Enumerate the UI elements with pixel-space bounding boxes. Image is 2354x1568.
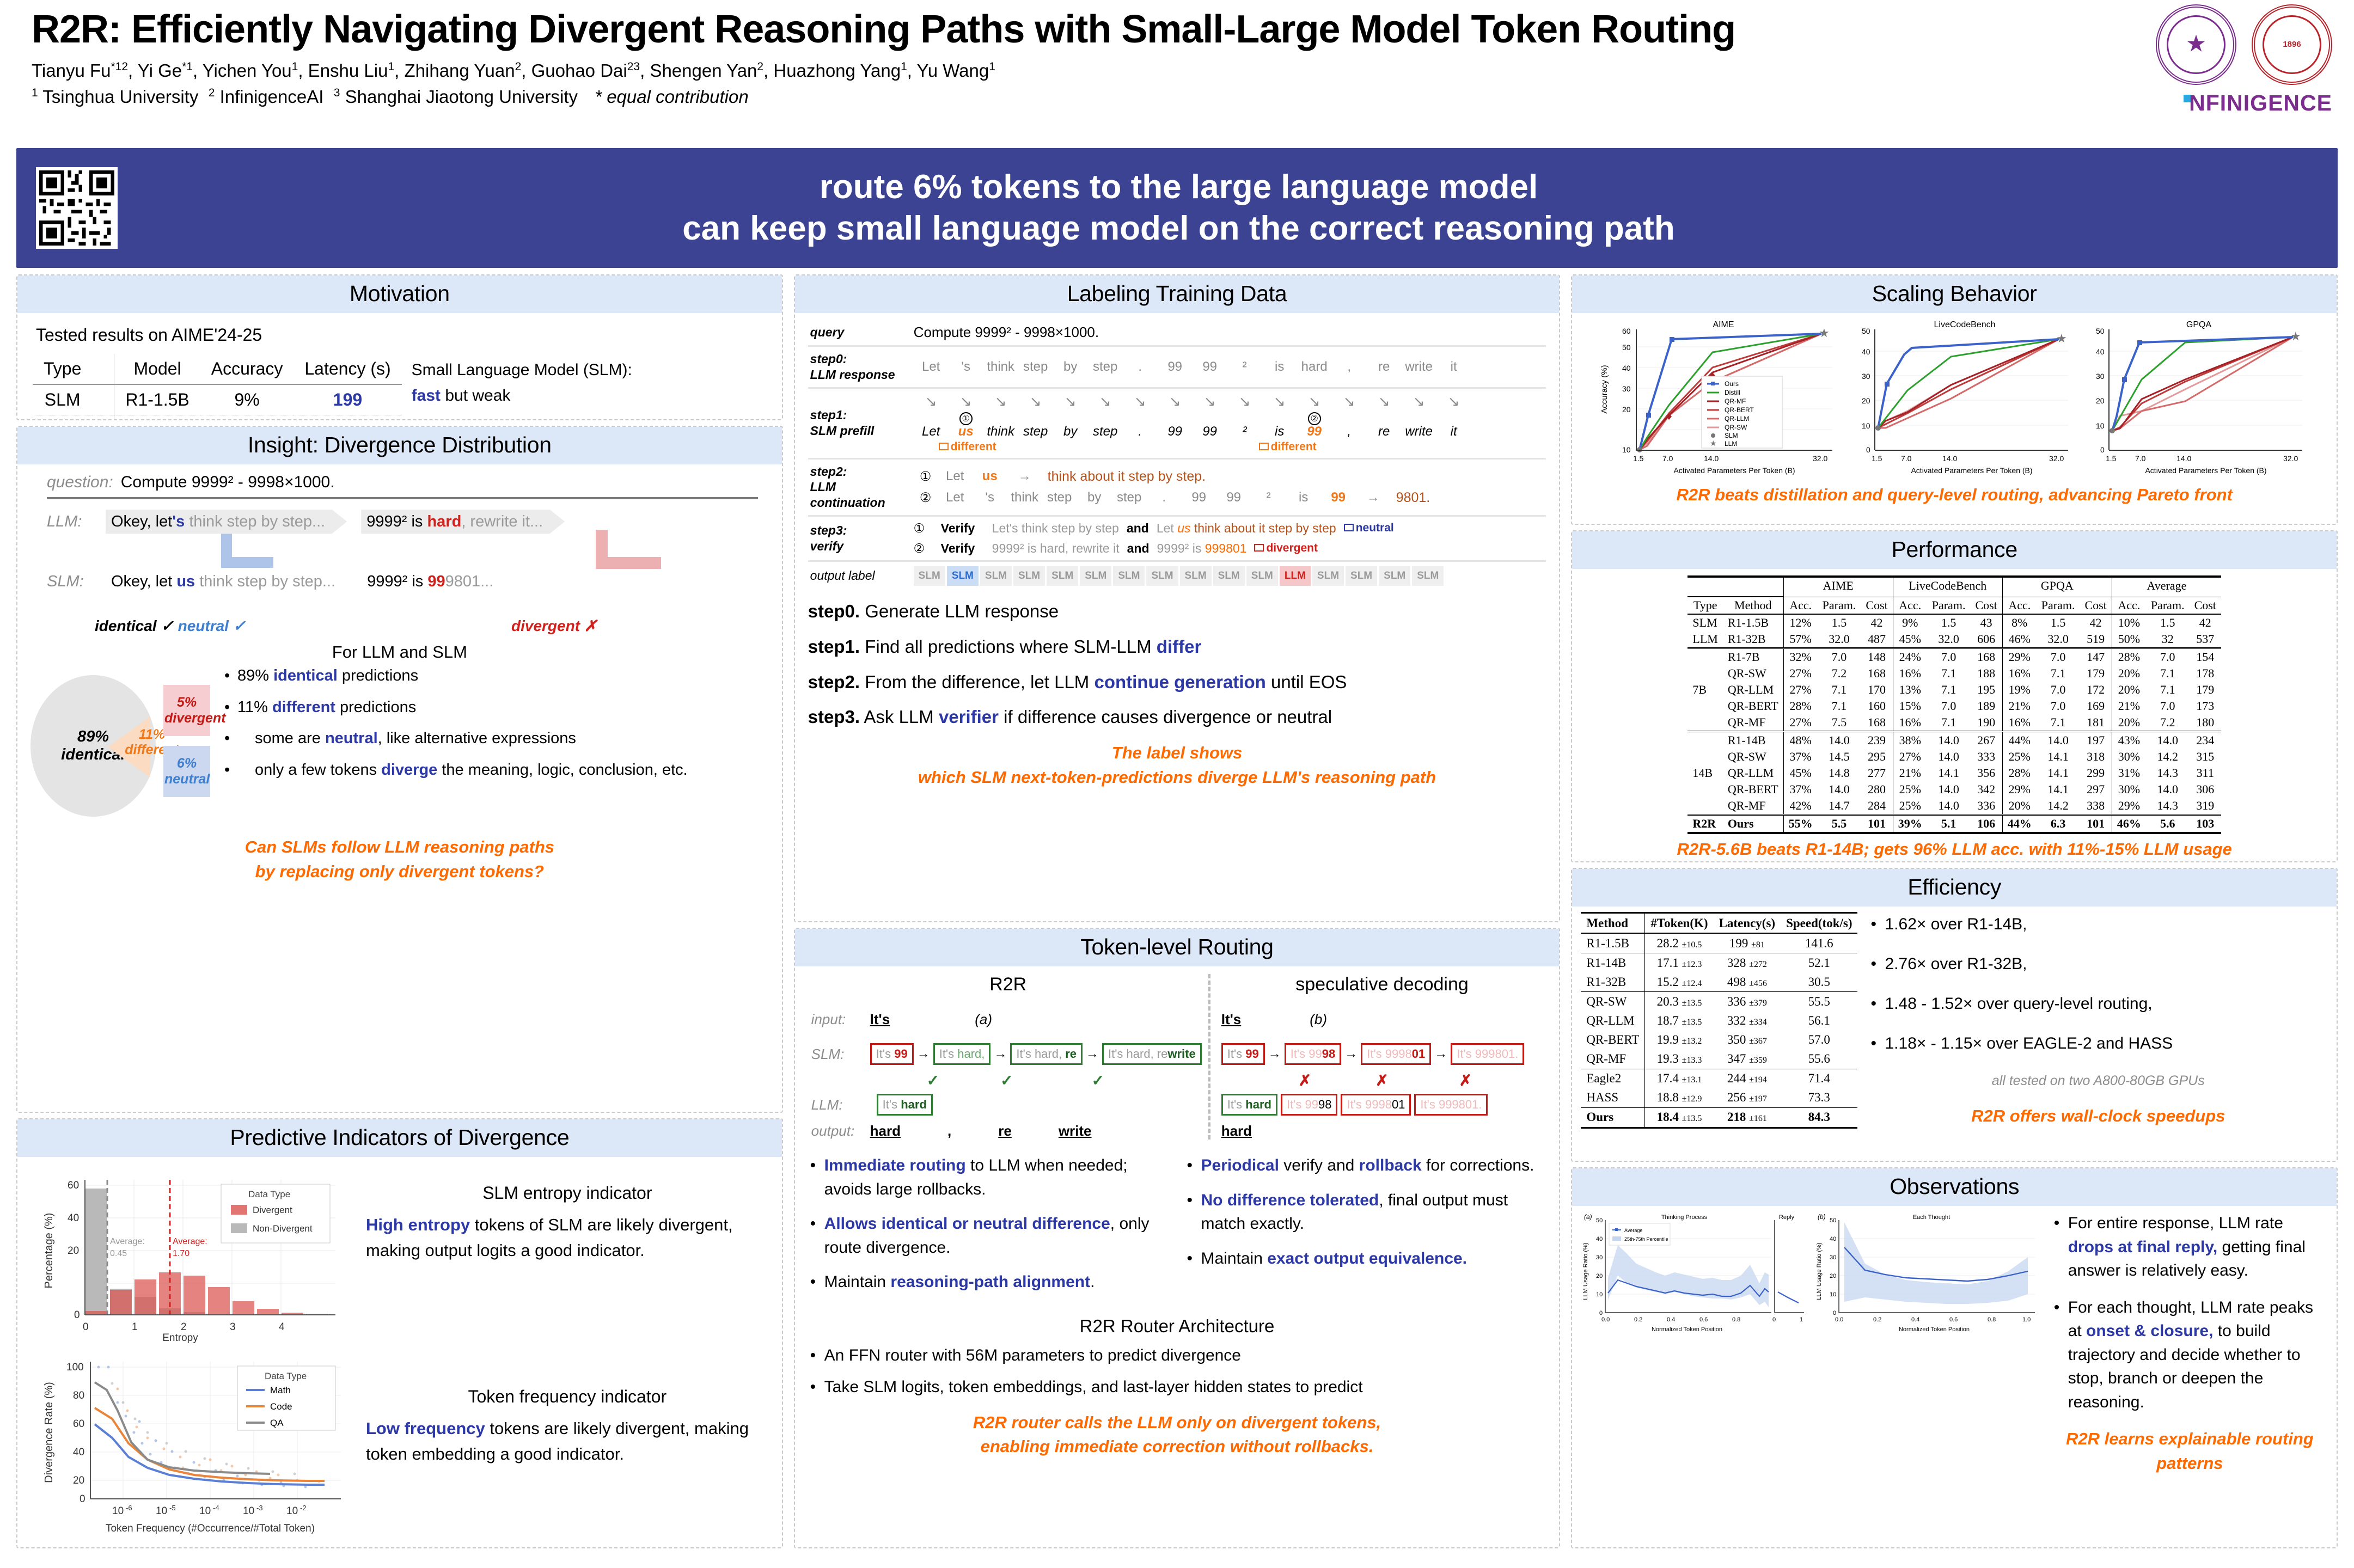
svg-text:20: 20 (2096, 396, 2105, 405)
table-row: QR-BERT 28%7.1160 15%7.0189 21%7.0169 21… (1687, 698, 2221, 714)
svg-text:25th-75th Percentile: 25th-75th Percentile (1624, 1236, 1668, 1242)
insight-verdicts: identical ✓ neutral ✓ divergent ✗ (95, 617, 769, 635)
svg-text:1.5: 1.5 (2106, 454, 2117, 463)
svg-text:-2: -2 (300, 1504, 307, 1512)
svg-text:0.4: 0.4 (1667, 1316, 1675, 1323)
svg-text:-6: -6 (126, 1504, 132, 1512)
divergence-distribution-figure: 89%identical 11%different 5%divergent 6%… (30, 664, 210, 828)
svg-text:50: 50 (1596, 1217, 1603, 1224)
svg-text:60: 60 (1622, 327, 1631, 335)
list-item: Maintain exact output equivalence. (1185, 1247, 1546, 1271)
svg-text:30: 30 (1830, 1254, 1836, 1261)
svg-text:Divergence Rate (%): Divergence Rate (%) (43, 1382, 55, 1483)
svg-text:GPQA: GPQA (2186, 320, 2212, 329)
divergent-tag: divergent (1254, 542, 1318, 555)
table-row: QR-MF 19.3 ±13.3 347 ±359 55.6 (1581, 1050, 1857, 1069)
observations-caption: R2R learns explainable routing patterns (2052, 1427, 2328, 1476)
svg-text:50: 50 (1830, 1217, 1836, 1224)
svg-text:Normalized Token Position: Normalized Token Position (1899, 1326, 1970, 1333)
svg-text:QR-BERT: QR-BERT (1725, 406, 1754, 414)
svg-text:1.70: 1.70 (173, 1249, 189, 1258)
routing-check-marks: ✓ ✓ ✓ (811, 1071, 1205, 1090)
svg-text:Normalized Token Position: Normalized Token Position (1652, 1326, 1722, 1333)
slm-box: It's 99 (870, 1043, 914, 1065)
affiliation-list: 1 Tsinghua University 2 InfinigenceAI 3 … (32, 85, 2338, 109)
svg-text:Code: Code (270, 1401, 292, 1412)
svg-text:10: 10 (286, 1505, 298, 1517)
svg-text:0.8: 0.8 (1732, 1316, 1740, 1323)
svg-text:60: 60 (68, 1180, 79, 1191)
panel-title-labeling: Labeling Training Data (795, 275, 1560, 313)
svg-text:LiveCodeBench: LiveCodeBench (1934, 320, 1996, 329)
page-title: R2R: Efficiently Navigating Divergent Re… (32, 10, 2338, 49)
svg-text:10: 10 (1862, 421, 1870, 430)
divergent-chip: 5%divergent (163, 685, 210, 736)
svg-text:1.5: 1.5 (1633, 454, 1644, 463)
speculative-bullets: Periodical verify and rollback for corre… (1185, 1154, 1546, 1305)
panel-insight: Insight: Divergence Distribution questio… (16, 426, 783, 1113)
svg-text:40: 40 (1622, 364, 1631, 372)
efficiency-table: Method #Token(K) Latency(s) Speed(tok/s)… (1581, 912, 1857, 1129)
banner-headline: route 6% tokens to the large language mo… (118, 167, 2338, 249)
svg-text:40: 40 (2096, 347, 2105, 356)
list-item: Maintain reasoning-path alignment. (808, 1270, 1170, 1294)
svg-text:14.0: 14.0 (1704, 454, 1719, 463)
neutral-chip: 6%neutral (163, 746, 210, 797)
svg-text:20: 20 (1862, 396, 1870, 405)
svg-text:40: 40 (1596, 1236, 1603, 1242)
table-row: QR-SW 27%7.2168 16%7.1188 16%7.1179 20%7… (1687, 665, 2221, 682)
difference-tag: different (939, 440, 996, 454)
svg-text:1: 1 (1800, 1316, 1803, 1323)
svg-text:0: 0 (83, 1321, 89, 1333)
list-item: only a few tokens diverge the meaning, l… (221, 758, 769, 782)
svg-text:0.2: 0.2 (1634, 1316, 1642, 1323)
svg-text:30: 30 (2096, 372, 2105, 381)
svg-text:Non-Divergent: Non-Divergent (253, 1223, 313, 1234)
svg-text:Activated Parameters Per Token: Activated Parameters Per Token (B) (1674, 466, 1795, 475)
panel-scaling: Scaling Behavior AIME (1571, 274, 2338, 525)
svg-text:4: 4 (279, 1321, 285, 1333)
chart-thinking-process: (a) Thinking Process Reply Average (1581, 1211, 1809, 1337)
output-label-row: SLM SLM SLM SLM SLM SLM SLM SLM SLM SL (914, 566, 1544, 586)
difference-tag: different (1259, 440, 1317, 454)
banner-line-1: route 6% tokens to the large language mo… (118, 167, 2240, 208)
svg-text:20: 20 (68, 1245, 79, 1257)
svg-text:QA: QA (270, 1418, 284, 1428)
svg-text:★: ★ (2290, 329, 2301, 343)
sjtu-seal-icon: 1896 (2252, 4, 2332, 85)
poster-root: R2R: Efficiently Navigating Divergent Re… (0, 0, 2354, 1568)
router-architecture-title: R2R Router Architecture (808, 1316, 1546, 1337)
table-row: LLM R1-32B 57%32.0487 45%32.0606 46%32.0… (1687, 631, 2221, 648)
svg-text:32.0: 32.0 (2283, 454, 2298, 463)
poster-header: R2R: Efficiently Navigating Divergent Re… (16, 0, 2338, 148)
table-row: step0:LLM response Let'sthinkstepbystep.… (808, 346, 1546, 388)
svg-text:20: 20 (1596, 1273, 1603, 1279)
svg-text:50: 50 (1622, 343, 1631, 352)
llm-box: It's 9998 (1281, 1094, 1338, 1116)
svg-text:0.4: 0.4 (1911, 1316, 1919, 1323)
observation-bullets: For entire response, LLM rate drops at f… (2052, 1211, 2328, 1476)
list-item: No difference tolerated, final output mu… (1185, 1189, 1546, 1236)
routing-cross-marks: ✗ ✗ ✗ (1221, 1071, 1543, 1090)
table-row: step2:LLM continuation ① Let us → think … (808, 458, 1546, 516)
equal-contribution-note: * equal contribution (595, 87, 749, 107)
table-row: R1-32B 15.2 ±12.4 498 ±456 30.5 (1581, 972, 1857, 992)
motivation-table: Type Model Accuracy Latency (s) SLM R1 (33, 354, 402, 420)
step-line: step0. Generate LLM response (808, 600, 1546, 623)
svg-text:80: 80 (73, 1390, 84, 1401)
list-item: 2.76× over R1-32B, (1868, 952, 2328, 976)
svg-text:AIME: AIME (1713, 320, 1734, 329)
llm-box: It's 999801. (1414, 1094, 1488, 1116)
svg-text:0: 0 (80, 1493, 85, 1505)
panel-title-efficiency: Efficiency (1572, 869, 2337, 906)
svg-text:0: 0 (2100, 445, 2105, 454)
svg-text:-4: -4 (213, 1504, 219, 1512)
svg-text:20: 20 (1830, 1273, 1836, 1279)
svg-text:Accuracy (%): Accuracy (%) (1600, 365, 1609, 413)
table-row: 14BQR-LLM 45%14.8277 21%14.1356 28%14.12… (1687, 765, 2221, 781)
svg-text:(a): (a) (1584, 1213, 1592, 1221)
svg-text:30: 30 (1596, 1254, 1603, 1261)
svg-text:(b): (b) (1818, 1213, 1826, 1221)
step2-row-1: ① Let us → think about it step by step. (914, 469, 1544, 485)
step1-token-row: Letusthinkstepbystep.9999²is99,rewriteit (914, 424, 1544, 439)
svg-text:0: 0 (74, 1309, 80, 1321)
panel-performance: Performance AIME LiveCodeBench GPQA Aver… (1571, 530, 2338, 862)
slm-trace-row: SLM: Okey, let us think step by step... … (47, 566, 758, 597)
efficiency-bullets: 1.62× over R1-14B, 2.76× over R1-32B, 1.… (1868, 912, 2328, 1129)
svg-text:30: 30 (1622, 384, 1631, 393)
svg-text:Data Type: Data Type (248, 1189, 290, 1199)
table-row: QR-SW 20.3 ±13.5 336 ±379 55.5 (1581, 992, 1857, 1012)
motivation-caption: Tested results on AIME'24-25 (36, 325, 402, 345)
svg-text:Entropy: Entropy (162, 1332, 198, 1343)
col-accuracy: Accuracy (200, 354, 294, 384)
insight-question: question:Compute 9999² - 9998×1000. (47, 472, 758, 499)
list-item: Take SLM logits, token embeddings, and l… (808, 1376, 1546, 1399)
infinigence-wordmark: NFINIGENCE (2189, 90, 2332, 115)
svg-text:QR-LLM: QR-LLM (1725, 415, 1749, 422)
svg-text:QR-SW: QR-SW (1725, 424, 1747, 431)
svg-text:0.8: 0.8 (1988, 1316, 1996, 1323)
svg-text:Average: Average (1624, 1228, 1642, 1233)
list-item: 1.48 - 1.52× over query-level routing, (1868, 991, 2328, 1016)
poster-columns: Motivation Tested results on AIME'24-25 … (16, 274, 2338, 1548)
table-row: Ours 18.4 ±13.5 218 ±161 84.3 (1581, 1107, 1857, 1128)
slm-box: It's 9998 (1285, 1043, 1342, 1065)
panel-title-motivation: Motivation (17, 275, 782, 313)
affiliations: 1 Tsinghua University 2 InfinigenceAI 3 … (32, 87, 578, 107)
svg-text:Activated Parameters Per Token: Activated Parameters Per Token (B) (2145, 466, 2267, 475)
labeling-table: query Compute 9999² - 9998×1000. step0:L… (808, 320, 1546, 590)
svg-text:QR-MF: QR-MF (1725, 397, 1746, 405)
neutral-tag: neutral (1344, 522, 1394, 535)
svg-text:32.0: 32.0 (2049, 454, 2064, 463)
r2r-bullets: Immediate routing to LLM when needed; av… (808, 1154, 1170, 1305)
step-line: step2. From the difference, let LLM cont… (808, 671, 1546, 694)
svg-text:7.0: 7.0 (1901, 454, 1912, 463)
svg-text:7.0: 7.0 (2135, 454, 2146, 463)
step-line: step3. Ask LLM verifier if difference ca… (808, 706, 1546, 729)
svg-text:Percentage (%): Percentage (%) (43, 1213, 55, 1289)
step3-row-1: ① Verify Let's think step by step and Le… (914, 521, 1544, 536)
list-item: some are neutral, like alternative expre… (221, 727, 769, 751)
motivation-notes: Small Language Model (SLM): fast but wea… (412, 322, 632, 420)
panel-title-insight: Insight: Divergence Distribution (17, 427, 782, 464)
qr-code-icon[interactable] (36, 167, 118, 249)
svg-text:60: 60 (73, 1418, 84, 1430)
observation-charts: (a) Thinking Process Reply Average (1581, 1211, 2043, 1476)
svg-text:100: 100 (66, 1362, 84, 1373)
chart-scaling-livecodebench: LiveCodeBench ★ (1848, 318, 2076, 482)
table-row: QR-MF 27%7.5168 16%7.1190 16%7.1181 20%7… (1687, 714, 2221, 732)
svg-text:10: 10 (1622, 445, 1631, 454)
routing-output-row: output: hard , re write (811, 1123, 1205, 1140)
list-item: 11% different predictions (221, 696, 769, 720)
step0-token-row: Let'sthinkstepbystep.9999²ishard,rewrite… (914, 359, 1544, 375)
svg-text:10: 10 (1830, 1291, 1836, 1298)
col-latency: Latency (s) (294, 354, 401, 384)
banner-line-2: can keep small language model on the cor… (118, 208, 2240, 249)
svg-text:20: 20 (1622, 405, 1631, 414)
svg-text:Ours: Ours (1725, 380, 1739, 388)
svg-text:Average:: Average: (110, 1237, 145, 1246)
svg-text:10: 10 (156, 1505, 167, 1517)
performance-table: AIME LiveCodeBench GPQA Average (1687, 575, 2221, 834)
table-row: QR-LLM 18.7 ±13.5 332 ±334 56.1 (1581, 1011, 1857, 1030)
table-row: LLM R1-32B 45% 498 (33, 415, 402, 421)
table-row: QR-BERT 19.9 ±13.2 350 ±367 57.0 (1581, 1031, 1857, 1050)
svg-text:40: 40 (68, 1212, 79, 1224)
svg-text:50: 50 (1862, 327, 1870, 335)
col-model: Model (114, 354, 200, 384)
svg-text:2: 2 (181, 1321, 187, 1333)
svg-text:LLM Usage Ratio (%): LLM Usage Ratio (%) (1582, 1242, 1589, 1300)
list-item: Periodical verify and rollback for corre… (1185, 1154, 1546, 1178)
svg-text:32.0: 32.0 (1813, 454, 1827, 463)
author-list: Tianyu Fu*12, Yi Ge*1, Yichen You1, Ensh… (32, 59, 2338, 83)
routing-output-row-right: hard (1221, 1123, 1543, 1140)
table-row: R1-14B 17.1 ±12.3 328 ±272 52.1 (1581, 953, 1857, 973)
svg-text:40: 40 (1862, 347, 1870, 356)
col-type: Type (33, 354, 92, 384)
step2-row-2: ② Let'sthinkstepbystep.9999²is 99 → 9801… (914, 490, 1544, 506)
panel-observations: Observations (a) Thinking Process Reply (1571, 1167, 2338, 1548)
svg-text:★: ★ (1710, 439, 1717, 448)
llm-box: It's 999801 (1341, 1094, 1411, 1116)
chart-each-thought: (b) Each Thought 504030 201 (1814, 1211, 2043, 1337)
svg-text:Average:: Average: (173, 1237, 207, 1246)
svg-text:0.6: 0.6 (1949, 1316, 1958, 1323)
svg-text:14.0: 14.0 (1942, 454, 1957, 463)
panel-title-performance: Performance (1572, 531, 2337, 569)
svg-text:Thinking Process: Thinking Process (1661, 1214, 1708, 1221)
panel-motivation: Motivation Tested results on AIME'24-25 … (16, 274, 783, 420)
panel-token-routing: Token-level Routing R2R input: It's (a) … (794, 928, 1561, 1548)
slm-box: It's 999801. (1451, 1043, 1524, 1065)
panel-title-scaling: Scaling Behavior (1572, 275, 2337, 313)
insight-subhead: For LLM and SLM (30, 642, 769, 662)
table-row: QR-SW 37%14.5295 27%14.0333 25%14.1318 3… (1687, 749, 2221, 765)
table-row: step3:verify ① Verify Let's think step b… (808, 516, 1546, 561)
chart-scaling-gpqa: GPQA ★ (2082, 318, 2310, 482)
svg-text:Data Type: Data Type (265, 1371, 307, 1381)
svg-text:LLM Usage Ratio (%): LLM Usage Ratio (%) (1816, 1242, 1823, 1300)
svg-text:40: 40 (1830, 1236, 1836, 1242)
slm-box: It's hard, re (1010, 1043, 1083, 1065)
slm-box: It's hard, rewrite (1102, 1043, 1202, 1065)
svg-text:0.2: 0.2 (1873, 1316, 1881, 1323)
insight-closing: Can SLMs follow LLM reasoning paths by r… (30, 835, 769, 884)
table-row: SLM R1-1.5B 12%1.542 9%1.543 8%1.542 10%… (1687, 614, 2221, 631)
headline-banner: route 6% tokens to the large language mo… (16, 148, 2338, 268)
routing-diagram-r2r: R2R input: It's (a) SLM: It's 99 → It's … (808, 974, 1210, 1140)
scaling-caption: R2R beats distillation and query-level r… (1580, 485, 2329, 505)
panel-predictive-indicators: Predictive Indicators of Divergence (16, 1118, 783, 1548)
svg-text:SLM: SLM (1725, 432, 1738, 439)
table-row: QR-BERT 37%14.0280 25%14.0342 29%14.1297… (1687, 781, 2221, 798)
svg-text:0.0: 0.0 (1601, 1316, 1610, 1323)
svg-text:LLM: LLM (1725, 440, 1737, 448)
step-line: step1. Find all predictions where SLM-LL… (808, 635, 1546, 659)
panel-title-routing: Token-level Routing (795, 929, 1560, 966)
chart-token-frequency: Data Type Math Code QA 1008060 40200 10-… (30, 1351, 357, 1546)
svg-text:0.0: 0.0 (1835, 1316, 1843, 1323)
table-row: R1-7B 32%7.0148 24%7.0168 29%7.0147 28%7… (1687, 648, 2221, 666)
table-row: R1-14B 48%14.0239 38%14.0267 44%14.0197 … (1687, 732, 2221, 749)
llm-box: It's hard (877, 1094, 933, 1116)
panel-title-predictive: Predictive Indicators of Divergence (17, 1119, 782, 1157)
svg-text:-3: -3 (256, 1504, 263, 1512)
panel-labeling: Labeling Training Data query Compute 999… (794, 274, 1561, 922)
list-item: For entire response, LLM rate drops at f… (2052, 1211, 2328, 1283)
prefill-arrow-row: ↘↘↘↘↘↘↘↘↘↘↘↘↘↘↘↘ (914, 393, 1544, 410)
svg-text:Math: Math (270, 1385, 291, 1395)
list-item: For each thought, LLM rate peaks at onse… (2052, 1296, 2328, 1414)
svg-text:50: 50 (2096, 327, 2105, 335)
efficiency-note: all tested on two A800-80GB GPUs (1868, 1071, 2328, 1092)
panel-efficiency: Efficiency Method #Token(K) Latency(s) S… (1571, 868, 2338, 1162)
labeling-steps: step0. Generate LLM response step1. Find… (808, 600, 1546, 730)
svg-text:1.0: 1.0 (2022, 1316, 2031, 1323)
table-row: HASS 18.8 ±12.9 256 ±197 73.3 (1581, 1088, 1857, 1108)
frequency-indicator-text: Token frequency indicator Low frequency … (366, 1351, 769, 1467)
svg-text:40: 40 (73, 1447, 84, 1458)
svg-text:Token Frequency (#Occurrence/#: Token Frequency (#Occurrence/#Total Toke… (106, 1523, 315, 1534)
svg-text:1.5: 1.5 (1872, 454, 1882, 463)
slm-box: It's 999801 (1361, 1043, 1431, 1065)
tsinghua-seal-icon: ★ (2156, 4, 2236, 85)
routing-diagram-speculative: speculative decoding It's (b) It's 99 → … (1210, 974, 1546, 1140)
column-right: Scaling Behavior AIME (1571, 274, 2338, 1548)
infinigence-logo-icon: NFINIGENCE (2131, 90, 2332, 116)
table-row: QR-MF 42%14.7284 25%14.0336 20%14.2338 2… (1687, 798, 2221, 815)
chart-scaling-aime: AIME (1598, 318, 1842, 482)
svg-text:7.0: 7.0 (1662, 454, 1673, 463)
svg-text:10: 10 (1596, 1291, 1603, 1298)
labeling-closing: The label shows which SLM next-token-pre… (808, 741, 1546, 790)
list-item: Allows identical or neutral difference, … (808, 1212, 1170, 1259)
svg-text:Distill: Distill (1725, 389, 1740, 396)
step3-row-2: ② Verify 9999² is hard, rewrite it and 9… (914, 541, 1544, 556)
insight-divergence-diagram: LLM: Okey, let's think step by step... 9… (47, 506, 758, 612)
svg-text:20: 20 (73, 1475, 84, 1486)
entropy-indicator-text: SLM entropy indicator High entropy token… (366, 1163, 769, 1263)
table-row: 7BQR-LLM 27%7.1170 13%7.1195 19%7.0172 2… (1687, 682, 2221, 698)
svg-text:Divergent: Divergent (253, 1205, 292, 1215)
column-middle: Labeling Training Data query Compute 999… (794, 274, 1561, 1548)
svg-text:0: 0 (1599, 1310, 1603, 1316)
svg-text:10: 10 (112, 1505, 124, 1517)
svg-text:10: 10 (2096, 421, 2105, 430)
list-item: 1.18× - 1.15× over EAGLE-2 and HASS (1868, 1031, 2328, 1056)
table-row: Eagle2 17.4 ±13.1 244 ±194 71.4 (1581, 1069, 1857, 1088)
svg-text:14.0: 14.0 (2176, 454, 2191, 463)
svg-text:★: ★ (1819, 326, 1830, 340)
svg-text:10: 10 (243, 1505, 254, 1517)
router-architecture-bullets: An FFN router with 56M parameters to pre… (808, 1344, 1546, 1399)
svg-text:Each Thought: Each Thought (1913, 1214, 1950, 1221)
svg-text:1: 1 (132, 1321, 138, 1333)
table-row: R1-1.5B 28.2 ±10.5 199 ±81 141.6 (1581, 933, 1857, 953)
table-row: query Compute 9999² - 9998×1000. (808, 320, 1546, 346)
llm-box: It's hard (1221, 1094, 1277, 1116)
svg-text:10: 10 (199, 1505, 211, 1517)
svg-text:Reply: Reply (1779, 1214, 1795, 1221)
panel-title-observations: Observations (1572, 1168, 2337, 1206)
chart-entropy-histogram: Average: 0.45 Average: 1.70 Data Type Di… (30, 1163, 357, 1347)
list-item: 89% identical predictions (221, 664, 769, 688)
svg-text:0.45: 0.45 (110, 1249, 127, 1258)
svg-text:★: ★ (2056, 332, 2067, 345)
table-row: output label SLM SLM SLM SLM SLM SLM SLM (808, 561, 1546, 590)
svg-text:3: 3 (230, 1321, 236, 1333)
insight-bullets: 89% identical predictions 11% different … (216, 664, 769, 789)
table-row: step1:SLM prefill ↘↘↘↘↘↘↘↘↘↘↘↘↘↘↘↘ ①② Le… (808, 388, 1546, 458)
slm-box: It's hard, (933, 1043, 991, 1065)
svg-text:-5: -5 (169, 1504, 176, 1512)
svg-text:0.6: 0.6 (1699, 1316, 1708, 1323)
table-row: SLM R1-1.5B 9% 199 (33, 384, 402, 415)
svg-text:0: 0 (1866, 445, 1870, 454)
logo-group: ★ 1896 NFINIGENCE (2131, 4, 2332, 145)
table-row: R2ROurs 55%5.5101 39%5.1106 44%6.3101 46… (1687, 815, 2221, 834)
svg-text:0: 0 (1772, 1316, 1776, 1323)
svg-text:Activated Parameters Per Token: Activated Parameters Per Token (B) (1911, 466, 2033, 475)
svg-text:0: 0 (1833, 1310, 1836, 1316)
routing-closing: R2R router calls the LLM only on diverge… (808, 1411, 1546, 1460)
performance-caption: R2R-5.6B beats R1-14B; gets 96% LLM acc.… (1580, 840, 2329, 859)
efficiency-caption: R2R offers wall-clock speedups (1868, 1104, 2328, 1129)
slm-box: It's 99 (1221, 1043, 1265, 1065)
svg-text:30: 30 (1862, 372, 1870, 381)
list-item: An FFN router with 56M parameters to pre… (808, 1344, 1546, 1367)
list-item: 1.62× over R1-14B, (1868, 912, 2328, 936)
column-left: Motivation Tested results on AIME'24-25 … (16, 274, 783, 1548)
list-item: Immediate routing to LLM when needed; av… (808, 1154, 1170, 1201)
